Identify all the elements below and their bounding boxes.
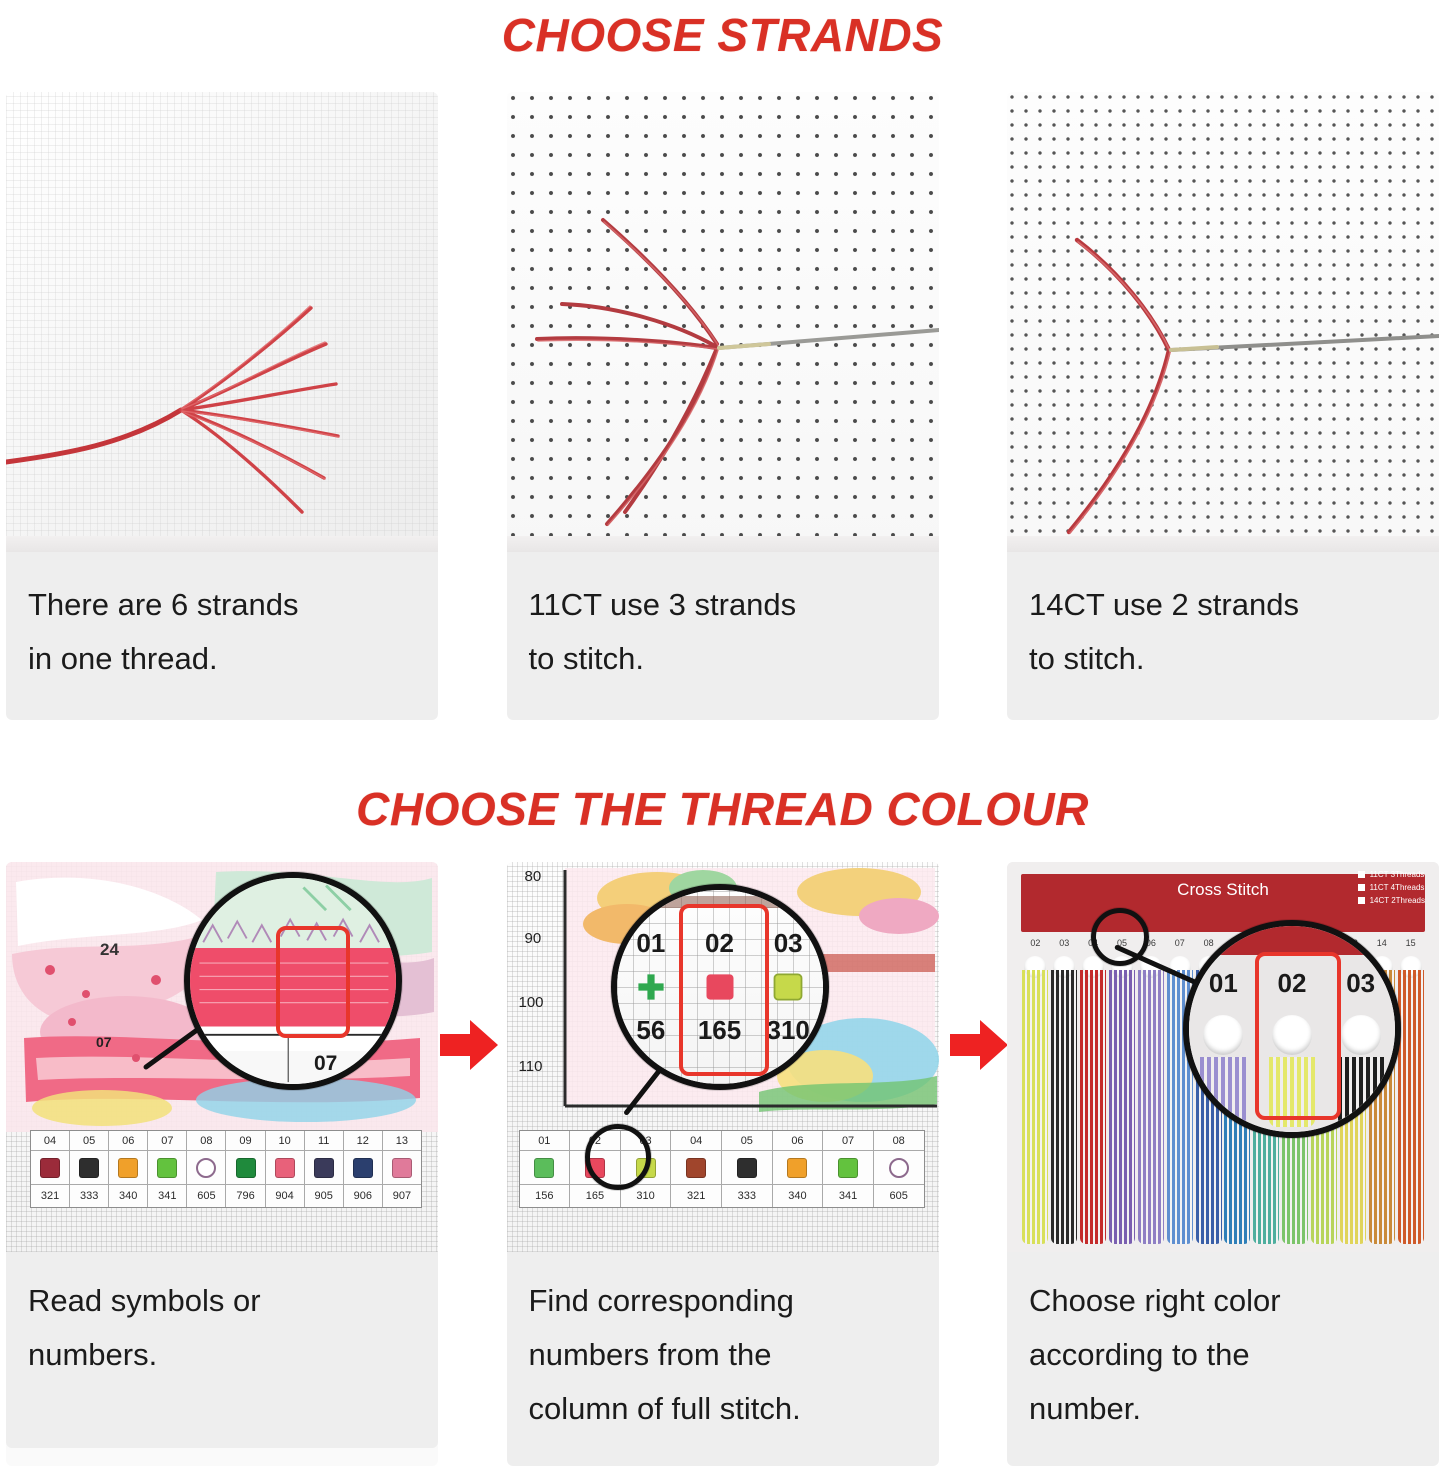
strands-card-row: There are 6 strands in one thread.	[0, 92, 1445, 720]
card-six-strands: There are 6 strands in one thread.	[6, 92, 438, 720]
legend-focus-circle	[585, 1124, 651, 1190]
caption-line: Find corresponding	[529, 1274, 917, 1328]
caption-line: in one thread.	[28, 632, 416, 686]
thread-card-option-label: 11CT 3Threads	[1370, 870, 1425, 879]
thread-skein	[1021, 956, 1050, 1244]
legend-symbol-cell	[823, 1151, 874, 1185]
caption-line: number.	[1029, 1382, 1417, 1436]
colour-swatch-icon	[889, 1158, 909, 1178]
magnified-legend-column: 02 165	[685, 890, 754, 1084]
magnified-skein-number: 02	[1278, 968, 1307, 999]
section-title-choose-strands: CHOOSE STRANDS	[0, 0, 1445, 66]
caption-six-strands: There are 6 strands in one thread.	[6, 552, 438, 720]
legend-number-cell: 341	[823, 1185, 874, 1207]
legend-symbol-cell	[383, 1151, 421, 1185]
skein-floss	[1022, 970, 1048, 1244]
magnified-symbol-square-lime	[768, 969, 808, 1005]
magnified-column-number: 165	[698, 1015, 741, 1046]
colour-swatch-icon	[838, 1158, 858, 1178]
number-legend-table: 0102030405060708 15616531032133334034160…	[519, 1130, 925, 1208]
colour-swatch-icon	[314, 1158, 334, 1178]
arrow-right-icon	[948, 1014, 1010, 1076]
legend-symbol-cell	[187, 1151, 226, 1185]
legend-symbol-cell	[226, 1151, 265, 1185]
photo-thread-colour-card: Cross Stitch 11CT 3Threads11CT 4Threads1…	[1007, 862, 1439, 1252]
magnified-skein-column: 01	[1189, 926, 1258, 1132]
section-title-choose-thread-colour: CHOOSE THE THREAD COLOUR	[0, 772, 1445, 840]
colour-swatch-icon	[737, 1158, 757, 1178]
colour-swatch-icon	[196, 1158, 216, 1178]
legend-number-cell: 605	[874, 1185, 924, 1207]
caption-line: Read symbols or	[28, 1274, 416, 1328]
skein-floss	[1138, 970, 1164, 1244]
skein-number-label: 03	[1050, 938, 1079, 956]
legend-symbol-cell	[344, 1151, 383, 1185]
chart-cell-label-24: 24	[100, 940, 119, 960]
magnified-legend-column: 01 56	[617, 890, 686, 1084]
caption-line: to stitch.	[1029, 632, 1417, 686]
thread-colour-card-row: 24 07	[0, 862, 1445, 1466]
magnified-skein-hole	[1272, 1015, 1312, 1055]
caption-find-numbers: Find corresponding numbers from the colu…	[507, 1252, 939, 1466]
magnified-column-header: 02	[705, 928, 734, 959]
y-axis-tick: 90	[525, 930, 542, 947]
thread-skein	[1050, 956, 1079, 1244]
magnified-column-header: 03	[774, 928, 803, 959]
three-strands-and-needle-illustration	[507, 92, 939, 552]
thread-card-options: 11CT 3Threads11CT 4Threads14CT 2Threads	[1358, 870, 1425, 905]
legend-header-cell: 04	[31, 1131, 70, 1151]
magnified-legend-column: 03 310	[754, 890, 823, 1084]
skein-floss	[1051, 970, 1077, 1244]
caption-14ct-two-strands: 14CT use 2 strands to stitch.	[1007, 552, 1439, 720]
legend-header-cell: 05	[722, 1131, 773, 1151]
legend-number-cell: 907	[383, 1185, 421, 1207]
thread-card-option[interactable]: 11CT 3Threads	[1358, 870, 1425, 879]
magnified-skein-floss	[1200, 1057, 1246, 1127]
legend-number-cell: 904	[266, 1185, 305, 1207]
colour-swatch-icon	[79, 1158, 99, 1178]
chart-inline-label-07: 07	[96, 1034, 112, 1050]
legend-header-cell: 06	[109, 1131, 148, 1151]
legend-number-cell: 156	[520, 1185, 571, 1207]
caption-line: numbers from the	[529, 1328, 917, 1382]
legend-number-cell: 340	[109, 1185, 148, 1207]
fabric-bottom-edge	[6, 536, 438, 552]
photo-pattern-chart-symbols: 24 07	[6, 862, 438, 1252]
colour-swatch-icon	[534, 1158, 554, 1178]
magnified-skein-floss	[1338, 1057, 1384, 1127]
legend-symbol-row	[31, 1151, 421, 1185]
card-find-numbers: 80 90 100 110 01 56	[507, 862, 939, 1466]
legend-number-cell: 340	[773, 1185, 824, 1207]
magnified-column-number: 56	[636, 1015, 665, 1046]
photo-14ct-aida	[1007, 92, 1439, 552]
colour-swatch-icon	[787, 1158, 807, 1178]
skein-floss	[1080, 970, 1106, 1244]
checkbox-icon[interactable]	[1358, 897, 1365, 904]
caption-line: column of full stitch.	[529, 1382, 917, 1436]
card-14ct-two-strands: 14CT use 2 strands to stitch.	[1007, 92, 1439, 720]
skein-floss	[1398, 970, 1424, 1244]
legend-symbol-cell	[148, 1151, 187, 1185]
checkbox-icon[interactable]	[1358, 871, 1365, 878]
caption-line: There are 6 strands	[28, 578, 416, 632]
caption-line: to stitch.	[529, 632, 917, 686]
colour-swatch-icon	[40, 1158, 60, 1178]
card-11ct-three-strands: 11CT use 3 strands to stitch.	[507, 92, 939, 720]
thread-skein	[1136, 956, 1165, 1244]
magnified-label-right: 07	[314, 1052, 337, 1076]
legend-number-cell: 333	[722, 1185, 773, 1207]
infographic-page: CHOOSE STRANDS	[0, 0, 1445, 1478]
colour-swatch-icon	[353, 1158, 373, 1178]
magnified-skein-column: 02	[1258, 926, 1327, 1132]
magnifier-symbols: 6 07	[184, 872, 402, 1090]
colour-swatch-icon	[118, 1158, 138, 1178]
skein-focus-circle	[1091, 908, 1149, 966]
photo-six-strands	[6, 92, 438, 552]
legend-number-cell: 905	[305, 1185, 344, 1207]
legend-number-row: 321333340341605796904905906907	[31, 1185, 421, 1207]
legend-header-cell: 06	[773, 1131, 824, 1151]
legend-header-cell: 13	[383, 1131, 421, 1151]
thread-skein	[1396, 956, 1425, 1244]
magnified-skein-floss	[1269, 1057, 1315, 1127]
legend-number-cell: 321	[671, 1185, 722, 1207]
legend-header-cell: 08	[187, 1131, 226, 1151]
legend-number-cell: 796	[226, 1185, 265, 1207]
legend-number-cell: 321	[31, 1185, 70, 1207]
checkbox-icon[interactable]	[1358, 884, 1365, 891]
legend-symbol-row	[520, 1151, 924, 1185]
photo-pattern-chart-numbers: 80 90 100 110 01 56	[507, 862, 939, 1252]
magnified-symbol-cross	[631, 969, 671, 1005]
legend-symbol-cell	[70, 1151, 109, 1185]
legend-number-cell: 341	[148, 1185, 187, 1207]
legend-header-cell: 12	[344, 1131, 383, 1151]
legend-header-row: 04050607080910111213	[31, 1131, 421, 1151]
legend-header-cell: 01	[520, 1131, 571, 1151]
legend-header-cell: 09	[226, 1131, 265, 1151]
y-axis-tick: 110	[519, 1058, 543, 1075]
legend-number-row: 156165310321333340341605	[520, 1185, 924, 1207]
caption-line: 11CT use 3 strands	[529, 578, 917, 632]
caption-choose-colour: Choose right color according to the numb…	[1007, 1252, 1439, 1466]
legend-symbol-cell	[722, 1151, 773, 1185]
legend-number-cell: 333	[70, 1185, 109, 1207]
colour-swatch-icon	[686, 1158, 706, 1178]
magnified-symbol-square-red	[700, 969, 740, 1005]
magnified-skein-hole	[1341, 1015, 1381, 1055]
magnifier-numbers: 01 56 02 165	[611, 884, 829, 1090]
legend-header-row: 0102030405060708	[520, 1131, 924, 1151]
magnified-label-left: 6	[206, 1052, 218, 1076]
legend-symbol-cell	[266, 1151, 305, 1185]
magnified-legend-columns: 01 56 02 165	[617, 890, 823, 1084]
legend-symbol-cell	[31, 1151, 70, 1185]
magnified-skein-hole	[1203, 1015, 1243, 1055]
six-strands-illustration	[6, 92, 438, 552]
magnified-skein-column: 03	[1326, 926, 1395, 1132]
colour-swatch-icon	[236, 1158, 256, 1178]
thread-card-option[interactable]: 11CT 4Threads	[1358, 883, 1425, 892]
legend-header-cell: 07	[148, 1131, 187, 1151]
magnified-column-number: 310	[766, 1015, 809, 1046]
skein-number-label: 02	[1021, 938, 1050, 956]
fabric-bottom-edge	[1007, 536, 1439, 552]
symbol-legend-table: 04050607080910111213 3213333403416057969…	[30, 1130, 422, 1208]
thread-skein	[1079, 956, 1108, 1244]
colour-swatch-icon	[157, 1158, 177, 1178]
legend-header-cell: 08	[874, 1131, 924, 1151]
caption-line: 14CT use 2 strands	[1029, 578, 1417, 632]
magnified-skein-number: 01	[1209, 968, 1238, 999]
caption-line: according to the	[1029, 1328, 1417, 1382]
legend-symbol-cell	[874, 1151, 924, 1185]
caption-line: numbers.	[28, 1328, 416, 1382]
legend-header-cell: 11	[305, 1131, 344, 1151]
legend-symbol-cell	[520, 1151, 571, 1185]
magnifier-skeins: 010203	[1183, 920, 1401, 1138]
card-read-symbols: 24 07	[6, 862, 438, 1466]
magnified-skein-columns: 010203	[1189, 926, 1395, 1132]
legend-symbol-cell	[671, 1151, 722, 1185]
legend-symbol-cell	[109, 1151, 148, 1185]
skein-floss	[1109, 970, 1135, 1244]
arrow-right-icon	[438, 1014, 500, 1076]
caption-line: Choose right color	[1029, 1274, 1417, 1328]
magnified-skein-number: 03	[1346, 968, 1375, 999]
caption-read-symbols: Read symbols or numbers.	[6, 1252, 438, 1448]
magnified-stitch-texture	[190, 878, 396, 1084]
thread-card-option[interactable]: 14CT 2Threads	[1358, 896, 1425, 905]
y-axis-tick: 100	[519, 994, 544, 1011]
legend-header-cell: 04	[671, 1131, 722, 1151]
legend-header-cell: 10	[266, 1131, 305, 1151]
thread-skein	[1108, 956, 1137, 1244]
legend-header-cell: 07	[823, 1131, 874, 1151]
skein-number-label: 15	[1396, 938, 1425, 956]
colour-swatch-icon	[392, 1158, 412, 1178]
card-choose-colour: Cross Stitch 11CT 3Threads11CT 4Threads1…	[1007, 862, 1439, 1466]
legend-number-cell: 605	[187, 1185, 226, 1207]
colour-swatch-icon	[275, 1158, 295, 1178]
magnified-column-header: 01	[636, 928, 665, 959]
legend-number-cell: 906	[344, 1185, 383, 1207]
caption-11ct-three-strands: 11CT use 3 strands to stitch.	[507, 552, 939, 720]
thread-card-option-label: 14CT 2Threads	[1370, 896, 1425, 905]
legend-symbol-cell	[773, 1151, 824, 1185]
legend-header-cell: 05	[70, 1131, 109, 1151]
photo-11ct-aida	[507, 92, 939, 552]
two-strands-and-needle-illustration	[1007, 92, 1439, 552]
thread-card-option-label: 11CT 4Threads	[1370, 883, 1425, 892]
fabric-bottom-edge	[507, 536, 939, 552]
legend-symbol-cell	[305, 1151, 344, 1185]
y-axis-tick: 80	[525, 868, 542, 885]
